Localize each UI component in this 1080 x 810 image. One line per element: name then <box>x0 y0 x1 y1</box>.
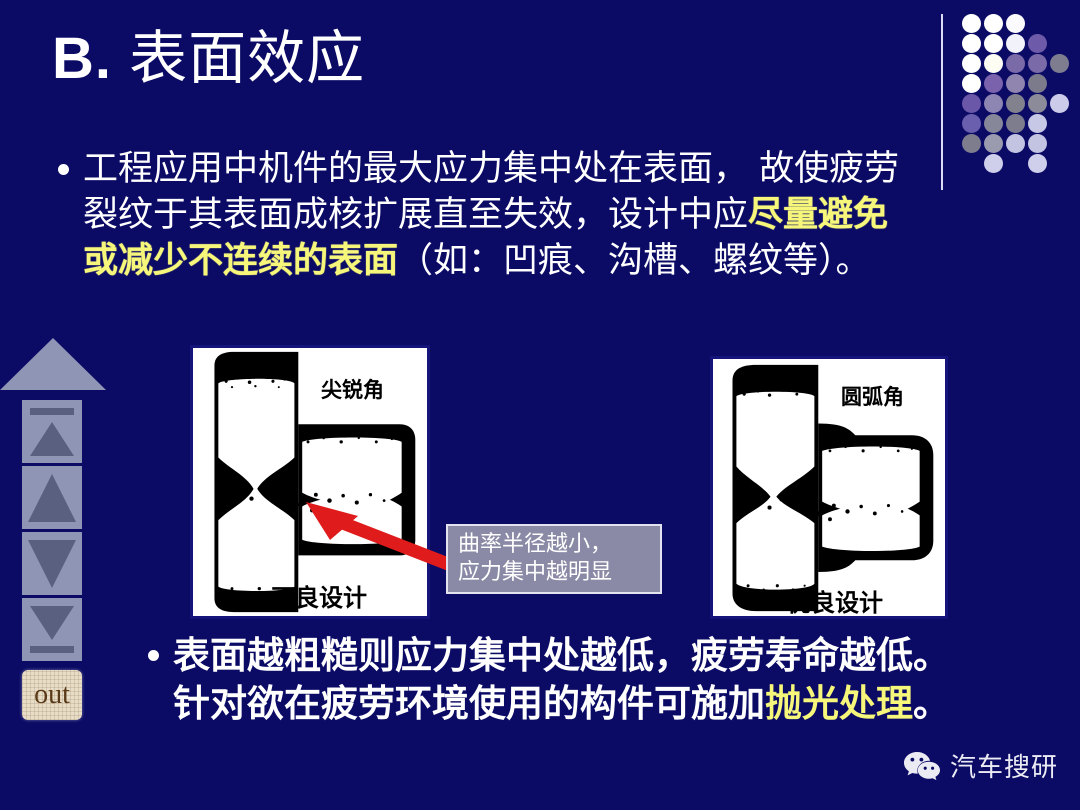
decorative-dot <box>962 134 981 153</box>
page-title-cjk: 表面效应 <box>129 24 365 92</box>
bullet-item-2: 表面越粗糙则应力集中处越低，疲劳寿命越低。针对欲在疲劳环境使用的构件可施加抛光处… <box>148 632 978 728</box>
decorative-dot <box>1006 74 1025 93</box>
decorative-dot <box>1028 94 1047 113</box>
decorative-dot <box>1006 34 1025 53</box>
last-slide-icon <box>22 598 82 661</box>
callout-box: 曲率半径越小， 应力集中越明显 <box>446 524 662 594</box>
decorative-dot <box>1028 134 1047 153</box>
decorative-dot <box>1006 114 1025 133</box>
bullet-item-1: 工程应用中机件的最大应力集中处在表面， 故使疲劳裂纹于其表面成核扩展直至失效，设… <box>58 146 918 285</box>
decorative-dot <box>1028 114 1047 133</box>
page-title-latin: B. <box>52 26 112 91</box>
wechat-icon <box>903 750 941 782</box>
watermark: 汽车搜研 <box>903 747 1058 784</box>
decorative-dot <box>962 114 981 133</box>
next-slide-button[interactable] <box>22 532 82 595</box>
decorative-dot <box>1028 154 1047 173</box>
decorative-dot <box>1028 34 1047 53</box>
decorative-dot <box>962 54 981 73</box>
bullet-text-2: 表面越粗糙则应力集中处越低，疲劳寿命越低。针对欲在疲劳环境使用的构件可施加抛光处… <box>173 632 978 728</box>
bullet-text-1: 工程应用中机件的最大应力集中处在表面， 故使疲劳裂纹于其表面成核扩展直至失效，设… <box>83 146 918 285</box>
first-slide-button[interactable] <box>22 400 82 463</box>
figure-left-caption: 不良设计 <box>271 578 367 613</box>
decorative-dot <box>962 34 981 53</box>
callout-line-1: 曲率半径越小， <box>458 531 660 559</box>
decorative-dot <box>1028 74 1047 93</box>
decorative-dot <box>984 14 1003 33</box>
decorative-dot <box>962 14 981 33</box>
decorative-dot <box>1050 54 1069 73</box>
text-segment-2: 。 <box>913 682 950 725</box>
decorative-dot <box>984 134 1003 153</box>
decorative-dot <box>984 54 1003 73</box>
decorative-dot <box>984 34 1003 53</box>
figure-left-corner-label: 尖锐角 <box>321 374 384 404</box>
figure-right-caption: 优良设计 <box>787 583 883 618</box>
decorative-dot <box>962 94 981 113</box>
decorative-dot <box>984 114 1003 133</box>
exit-button[interactable]: out <box>22 670 82 720</box>
bullet-marker-icon <box>58 164 69 175</box>
decorative-dot <box>984 154 1003 173</box>
next-slide-icon <box>22 532 82 595</box>
decorative-dot <box>984 74 1003 93</box>
decorative-dot <box>1006 94 1025 113</box>
page-title: B. 表面效应 <box>52 28 365 90</box>
bad-design-figure: 尖锐角 不良设计 <box>190 345 430 619</box>
watermark-text: 汽车搜研 <box>950 747 1058 784</box>
exit-button-label: out <box>34 681 70 709</box>
text-segment-1: 抛光处理 <box>765 682 913 725</box>
decorative-divider <box>941 14 943 190</box>
decorative-dot <box>1006 14 1025 33</box>
decorative-dot <box>1050 94 1069 113</box>
previous-slide-button[interactable] <box>22 466 82 529</box>
decorative-dot-matrix <box>962 14 1074 174</box>
previous-slide-icon <box>22 466 82 529</box>
text-segment-2: （如：凹痕、沟槽、螺纹等）。 <box>398 241 871 281</box>
bad-design-illustration <box>193 348 427 616</box>
decorative-dot <box>1006 54 1025 73</box>
good-design-figure: 圆弧角 优良设计 <box>710 356 948 619</box>
last-slide-button[interactable] <box>22 598 82 661</box>
good-design-illustration <box>713 359 945 616</box>
first-slide-icon <box>22 400 82 463</box>
presentation-slide: B. 表面效应 工程应用中机件的最大应力集中处在表面， 故使疲劳裂纹于其表面成核… <box>0 0 1080 810</box>
bullet-marker-icon <box>148 650 159 661</box>
decorative-dot <box>1006 134 1025 153</box>
decorative-dot <box>962 74 981 93</box>
triangle-up-large-icon[interactable] <box>0 338 106 390</box>
decorative-dot <box>1028 54 1047 73</box>
callout-line-2: 应力集中越明显 <box>458 559 660 587</box>
decorative-dot <box>984 94 1003 113</box>
figure-right-corner-label: 圆弧角 <box>841 381 904 411</box>
